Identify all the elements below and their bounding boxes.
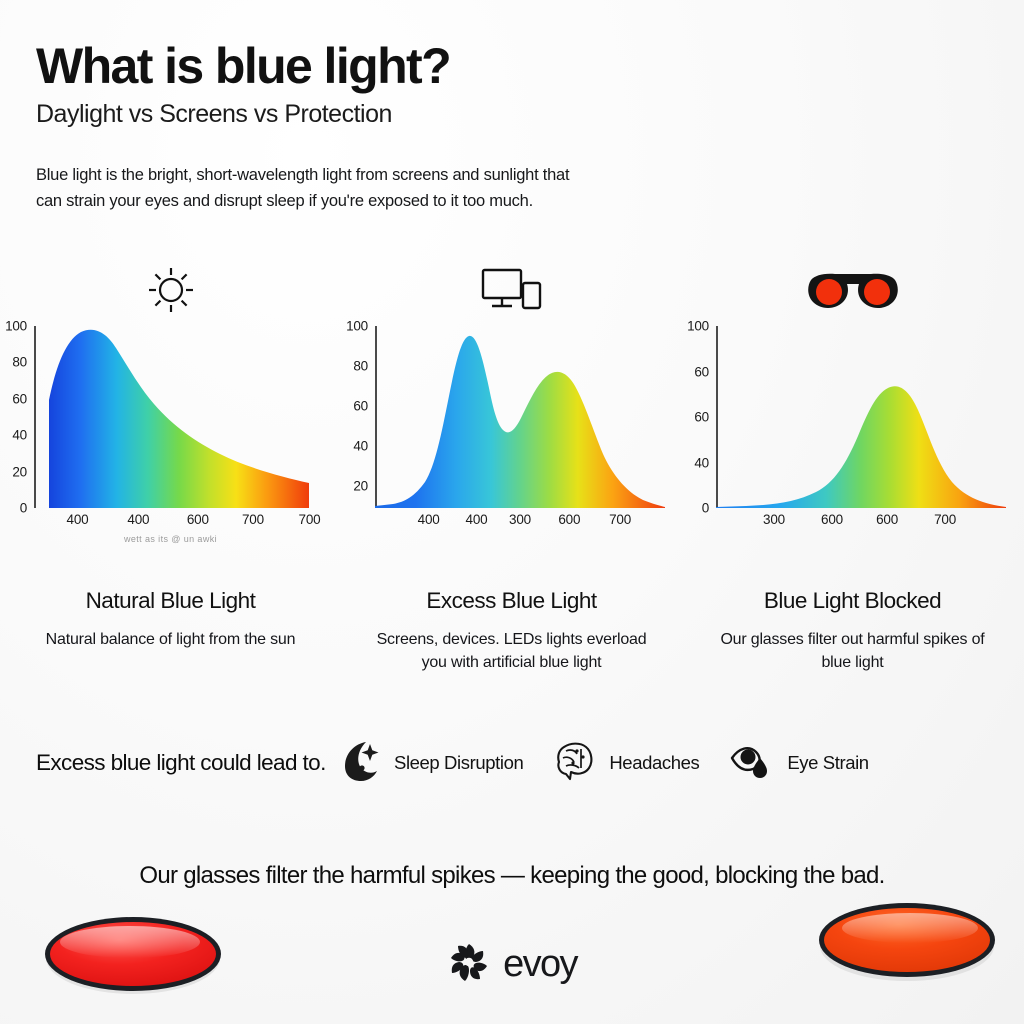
x-tick: 600	[187, 512, 209, 527]
page-subtitle: Daylight vs Screens vs Protection	[36, 100, 1024, 129]
x-tick: 300	[763, 512, 785, 527]
y-tick: 100	[5, 319, 34, 334]
y-tick: 80	[12, 355, 34, 370]
x-tick: 700	[934, 512, 956, 527]
caption-excess: Excess Blue Light Screens, devices. LEDs…	[341, 588, 682, 674]
y-tick: 60	[353, 399, 375, 414]
caption-title: Excess Blue Light	[367, 588, 656, 614]
eye-icon	[729, 740, 775, 785]
aperture-swirl-icon	[447, 940, 491, 989]
effect-label: Headaches	[609, 752, 699, 774]
plot-excess: 100 80 60 40 20	[341, 318, 682, 528]
x-ticks-blocked: 300 600 600 700	[716, 512, 1006, 534]
chart-panel-blocked: 100 60 60 40 0	[682, 262, 1023, 528]
caption-description: Our glasses filter out harmful spikes of…	[708, 628, 997, 674]
header: What is blue light? Daylight vs Screens …	[0, 0, 1024, 214]
caption-blocked: Blue Light Blocked Our glasses filter ou…	[682, 588, 1023, 674]
x-ticks-natural: 400 400 600 700 700	[34, 512, 324, 534]
spectrum-curve-excess	[375, 326, 665, 508]
y-tick: 0	[702, 501, 716, 516]
chart-panel-natural: 100 80 60 40 20 0	[0, 262, 341, 528]
y-tick: 60	[694, 410, 716, 425]
x-axis-label-natural: wett as its @ un awki	[0, 534, 341, 544]
moon-sparkle-icon	[336, 738, 382, 787]
spectrum-curve-blocked	[716, 326, 1006, 508]
spectrum-curve-natural	[34, 326, 324, 508]
effects-lead-text: Excess blue light could lead to.	[36, 749, 336, 776]
charts-row: 100 80 60 40 20 0	[0, 262, 1024, 528]
y-tick: 20	[353, 479, 375, 494]
monitor-phone-icon	[480, 262, 544, 318]
intro-paragraph: Blue light is the bright, short-waveleng…	[36, 163, 596, 214]
captions-row: Natural Blue Light Natural balance of li…	[0, 588, 1024, 674]
caption-title: Natural Blue Light	[26, 588, 315, 614]
plot-natural: 100 80 60 40 20 0	[0, 318, 341, 528]
caption-description: Natural balance of light from the sun	[26, 628, 315, 651]
x-tick: 700	[242, 512, 264, 527]
y-tick: 20	[12, 464, 34, 479]
caption-natural: Natural Blue Light Natural balance of li…	[0, 588, 341, 674]
brain-icon	[553, 738, 597, 787]
sun-icon	[143, 262, 199, 318]
x-tick: 700	[609, 512, 631, 527]
brand-name: evoy	[503, 943, 577, 986]
y-tick: 100	[346, 319, 375, 334]
glasses-icon	[805, 262, 901, 318]
caption-description: Screens, devices. LEDs lights everload y…	[367, 628, 656, 674]
caption-title: Blue Light Blocked	[708, 588, 997, 614]
x-tick: 600	[876, 512, 898, 527]
x-tick: 300	[509, 512, 531, 527]
x-tick: 400	[418, 512, 440, 527]
y-tick: 60	[694, 364, 716, 379]
effects-row: Excess blue light could lead to. Sleep D…	[36, 738, 996, 787]
chart-panel-excess: 100 80 60 40 20	[341, 262, 682, 528]
effect-headaches: Headaches	[553, 738, 699, 787]
effect-label: Eye Strain	[787, 752, 868, 774]
footer-copy: Our glasses filter the harmful spikes — …	[0, 860, 1024, 892]
y-tick: 100	[687, 319, 716, 334]
effect-sleep-disruption: Sleep Disruption	[336, 738, 523, 787]
effect-eye-strain: Eye Strain	[729, 740, 868, 785]
y-tick: 0	[20, 501, 34, 516]
x-tick: 600	[821, 512, 843, 527]
x-tick: 400	[67, 512, 89, 527]
effect-label: Sleep Disruption	[394, 752, 523, 774]
x-ticks-excess: 400 400 300 600 700	[375, 512, 665, 534]
y-tick: 40	[353, 439, 375, 454]
x-tick: 600	[558, 512, 580, 527]
x-tick: 400	[466, 512, 488, 527]
y-tick: 80	[353, 359, 375, 374]
x-tick: 400	[127, 512, 149, 527]
x-tick: 700	[299, 512, 321, 527]
y-tick: 40	[12, 428, 34, 443]
plot-blocked: 100 60 60 40 0	[682, 318, 1023, 528]
brand-lockup: evoy	[0, 940, 1024, 989]
page-title: What is blue light?	[36, 40, 1024, 92]
y-tick: 60	[12, 391, 34, 406]
y-tick: 40	[694, 455, 716, 470]
